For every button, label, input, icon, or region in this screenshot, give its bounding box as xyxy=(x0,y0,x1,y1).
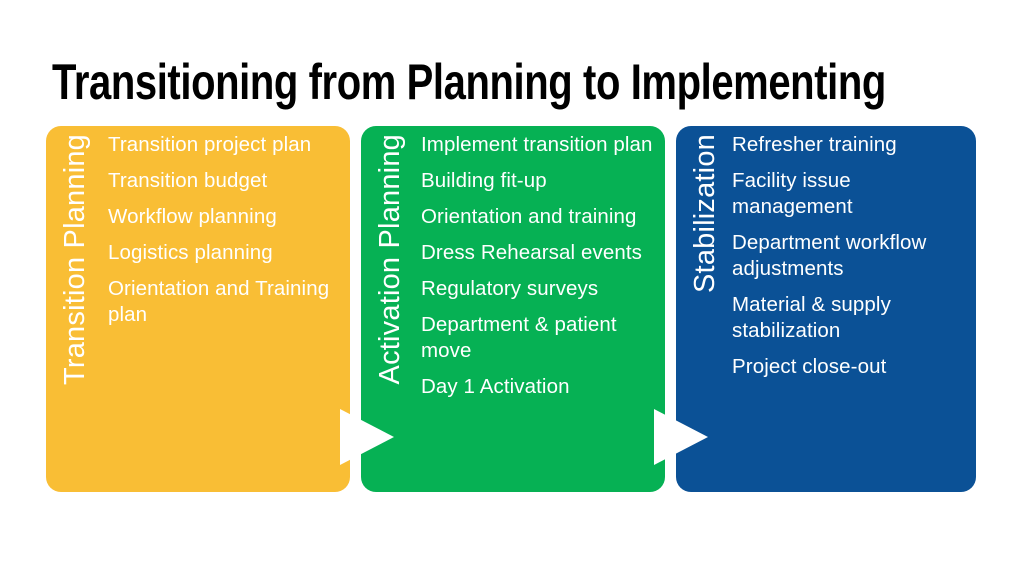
phase-item-list-stabilization: Refresher training Facility issue manage… xyxy=(732,126,968,390)
list-item: Building fit-up xyxy=(421,168,657,194)
arrow-right-icon xyxy=(654,409,708,465)
slide-canvas: Transitioning from Planning to Implement… xyxy=(0,0,1024,576)
list-item: Department workflow adjustments xyxy=(732,230,968,282)
list-item: Regulatory surveys xyxy=(421,276,657,302)
list-item: Implement transition plan xyxy=(421,132,657,158)
phase-panel-transition-planning[interactable]: Transition Planning Transition project p… xyxy=(46,126,350,492)
list-item: Transition project plan xyxy=(108,132,340,158)
list-item: Day 1 Activation xyxy=(421,374,657,400)
list-item: Facility issue management xyxy=(732,168,968,220)
list-item: Department & patient move xyxy=(421,312,657,364)
phase-panel-stabilization[interactable]: Stabilization Refresher training Facilit… xyxy=(676,126,976,492)
list-item: Project close-out xyxy=(732,354,968,380)
list-item: Refresher training xyxy=(732,132,968,158)
phase-item-list-activation-planning: Implement transition plan Building fit-u… xyxy=(421,126,657,410)
list-item: Workflow planning xyxy=(108,204,340,230)
list-item: Logistics planning xyxy=(108,240,340,266)
list-item: Material & supply stabilization xyxy=(732,292,968,344)
arrow-right-icon xyxy=(340,409,394,465)
list-item: Orientation and training xyxy=(421,204,657,230)
phase-label-transition-planning: Transition Planning xyxy=(46,126,104,492)
page-title: Transitioning from Planning to Implement… xyxy=(52,50,788,114)
phase-item-list-transition-planning: Transition project plan Transition budge… xyxy=(108,126,340,338)
phase-panel-activation-planning[interactable]: Activation Planning Implement transition… xyxy=(361,126,665,492)
list-item: Transition budget xyxy=(108,168,340,194)
list-item: Orientation and Training plan xyxy=(108,276,340,328)
list-item: Dress Rehearsal events xyxy=(421,240,657,266)
